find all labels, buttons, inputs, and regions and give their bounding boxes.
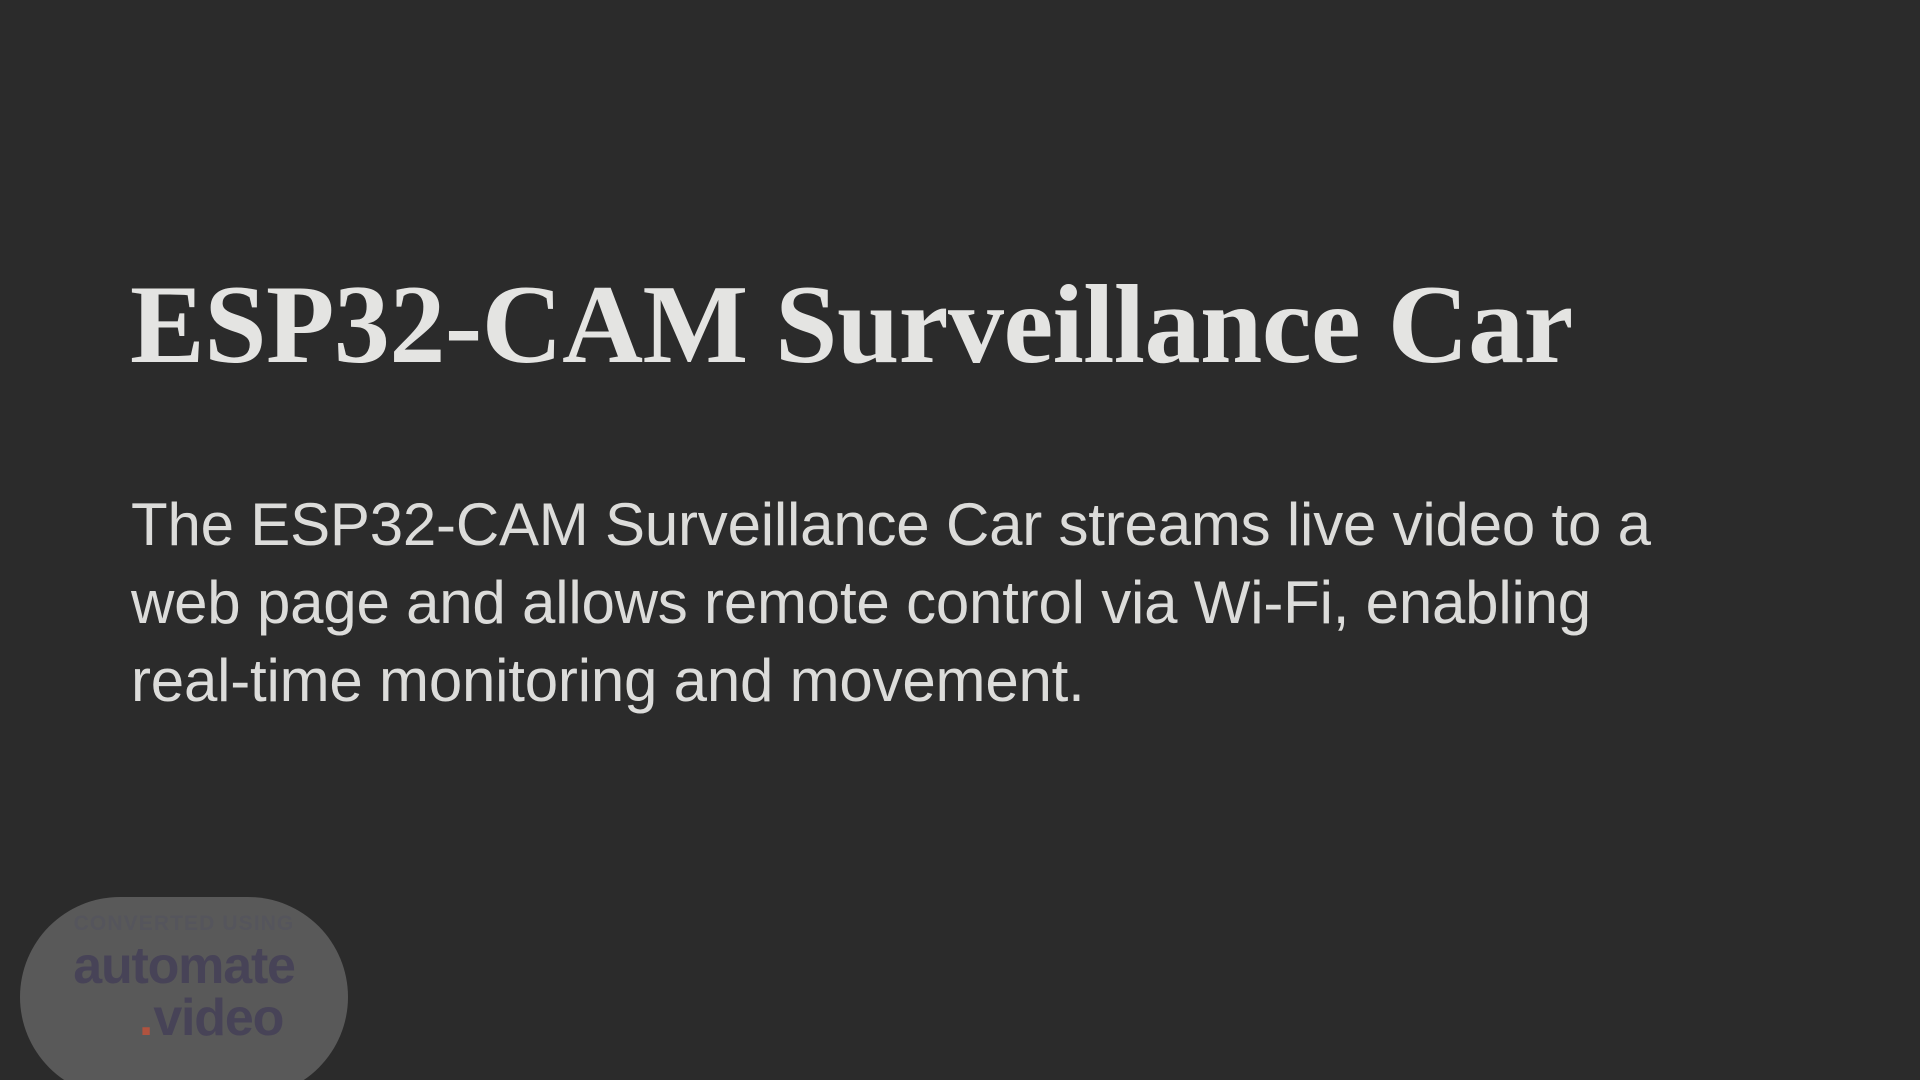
watermark-dot-icon: . [139,989,153,1047]
body-line-1: The ESP32-CAM Surveillance Car streams l… [131,486,1491,564]
slide-canvas: ESP32-CAM Surveillance Car The ESP32-CAM… [0,0,1920,1080]
watermark-domain-row: .video [20,992,348,1046]
automate-video-watermark-badge: CONVERTED USING automate .video [20,897,348,1080]
watermark-wordmark: automate [20,940,348,994]
watermark-domain-label: video [153,989,283,1047]
slide-body-paragraph: The ESP32-CAM Surveillance Car streams l… [131,486,1491,720]
body-line-2: web page and allows remote control via W… [131,564,1491,642]
page-title: ESP32-CAM Surveillance Car [130,268,1690,382]
watermark-kicker-label: CONVERTED USING [20,913,348,934]
body-line-3: real-time monitoring and movement. [131,642,1491,720]
